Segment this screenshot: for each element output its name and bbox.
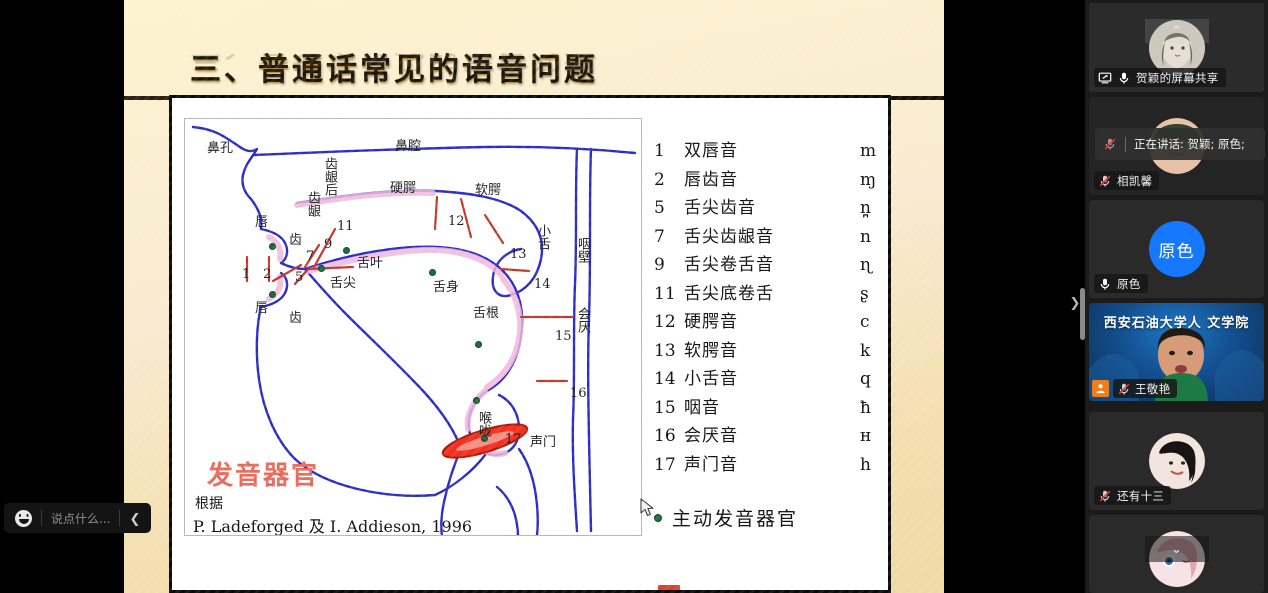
place-list-name: 舌尖齿龈音 (684, 222, 860, 247)
diagram-number: 7 (306, 249, 314, 264)
participant-name: 还有十三 (1117, 488, 1164, 504)
diagram-label: 唇 (255, 297, 268, 316)
place-list-number: 12 (654, 312, 684, 332)
place-list-number: 14 (654, 369, 684, 389)
mic-muted-icon (1098, 489, 1112, 503)
speaking-indicator-toast: 正在讲话: 贺颖; 原色; (1095, 128, 1265, 160)
host-icon (1092, 380, 1109, 397)
host-person-glyph (1095, 383, 1106, 394)
diagram-number: 9 (324, 237, 332, 252)
diagram-number: 11 (337, 219, 354, 234)
active-articulator-legend: 主动发音器官 (654, 504, 798, 531)
diagram-number: 16 (570, 386, 587, 401)
participant-tile-partial[interactable]: ⌄ (1089, 515, 1264, 593)
diagram-label: 会厌 (573, 307, 592, 333)
participant-badge: 原色 (1094, 274, 1148, 293)
participant-name: 王敬艳 (1135, 381, 1170, 397)
participant-tile-wangjingyan[interactable]: 西安石油大学人 文学院 王敬艳 (1089, 303, 1264, 401)
mic-icon (1117, 71, 1131, 85)
place-list-row: 9舌尖卷舌音ɳ (654, 250, 894, 279)
place-list-symbol: q (860, 369, 894, 389)
diagram-number: 5 (295, 270, 303, 285)
active-articulator-dot (269, 291, 276, 298)
tile-media: ⌄ (1089, 515, 1264, 593)
webcam-overlay-title: 西安石油大学人 文学院 (1089, 312, 1264, 331)
place-list-symbol: k (860, 341, 894, 361)
place-list-number: 9 (654, 255, 684, 275)
diagram-number: 17 (505, 432, 522, 447)
place-list-name: 舌尖卷舌音 (684, 250, 860, 275)
participant-badge: 相凯馨 (1094, 171, 1159, 190)
place-list-symbol: ʂ (860, 284, 894, 304)
place-list-symbol: ħ (860, 398, 894, 418)
diagram-label: 舌叶 (357, 252, 383, 271)
mic-muted-icon (1098, 174, 1112, 188)
place-list-name: 会厌音 (684, 421, 860, 446)
active-articulator-dot (473, 397, 480, 404)
place-list-name: 小舌音 (684, 364, 860, 389)
diagram-number: 2 (263, 267, 271, 282)
meeting-screen-share-window: 三、普通话常见的语音问题 三、普通话常见的语音问题 (0, 0, 1268, 593)
participant-name: 贺颖的屏幕共享 (1136, 70, 1219, 86)
mic-muted-icon (1103, 137, 1117, 151)
place-list-number: 16 (654, 426, 684, 446)
legend-label: 主动发音器官 (672, 504, 798, 531)
place-list-symbol: ʜ (860, 426, 894, 446)
place-list-name: 舌尖底卷舌 (684, 279, 860, 304)
place-list-row: 1双唇音m (654, 136, 894, 165)
diagram-label: 鼻孔 (207, 137, 233, 156)
active-articulator-dot (343, 247, 350, 254)
composer-collapse-button[interactable]: ❮ (120, 503, 149, 533)
diagram-number: 12 (448, 214, 465, 229)
active-articulator-dot (475, 341, 482, 348)
place-list-symbol: h (860, 455, 894, 475)
place-list-symbol: ɱ (860, 170, 894, 190)
scroll-up-overlay-button[interactable]: ⌃ (1145, 19, 1209, 43)
place-list-row: 16会厌音ʜ (654, 421, 894, 450)
place-list-symbol: ɳ (860, 255, 894, 275)
diagram-label: 小舌 (533, 224, 552, 250)
diagram-label: 咽壁 (573, 237, 592, 263)
participant-tile-screen-share[interactable]: ⌃ 贺颖的屏幕共享 (1089, 3, 1264, 92)
avatar-initials: 原色 (1149, 221, 1205, 277)
diagram-label: 软腭 (475, 179, 501, 198)
place-list-name: 声门音 (684, 450, 860, 475)
chevron-right-icon: ❯ (1070, 295, 1081, 311)
participant-tile-yuanse[interactable]: 原色 原色 (1089, 200, 1264, 298)
place-list-name: 唇齿音 (684, 165, 860, 190)
participant-badge: 还有十三 (1094, 486, 1171, 505)
participants-rail: ⌃ 贺颖的屏幕共享 (1085, 0, 1268, 593)
place-list-name: 舌尖齿音 (684, 193, 860, 218)
place-list-row: 5舌尖齿音n̪ (654, 193, 894, 222)
shared-content-stage: 三、普通话常见的语音问题 三、普通话常见的语音问题 (0, 0, 1085, 593)
diagram-label: 硬腭 (390, 177, 416, 196)
diagram-label: 声门 (530, 431, 556, 450)
place-list-row: 14小舌音q (654, 364, 894, 393)
participant-badge: 贺颖的屏幕共享 (1094, 68, 1226, 87)
diagram-label: 齿 (289, 229, 302, 248)
vocal-tract-diagram: 鼻孔鼻腔硬腭软腭齿龈后齿龈唇齿唇齿舌叶舌尖舌身小舌咽壁会厌舌根喉咙声门 1257… (184, 118, 642, 536)
diagram-label: 鼻腔 (395, 135, 421, 154)
place-list-row: 7舌尖齿龈音n (654, 222, 894, 251)
avatar (1149, 433, 1205, 489)
diagram-label: 舌尖 (330, 272, 356, 291)
place-list-name: 软腭音 (684, 336, 860, 361)
place-list-row: 11舌尖底卷舌ʂ (654, 279, 894, 308)
place-list-number: 7 (654, 227, 684, 247)
place-list-number: 5 (654, 198, 684, 218)
place-list-number: 11 (654, 284, 684, 304)
diagram-label: 舌身 (433, 276, 459, 295)
participant-tile-haiyoushisan[interactable]: 还有十三 (1089, 412, 1264, 510)
diagram-label: 唇 (255, 211, 268, 230)
place-list-symbol: n (860, 227, 894, 247)
place-list-row: 17声门音h (654, 450, 894, 479)
diagram-number: 1 (242, 267, 250, 282)
place-list-row: 2唇齿音ɱ (654, 165, 894, 194)
chat-input-placeholder: 说点什么... (51, 510, 110, 527)
speaking-text: 正在讲话: 贺颖; 原色; (1134, 136, 1245, 152)
place-list-name: 双唇音 (684, 136, 860, 161)
active-articulator-dot (429, 269, 436, 276)
place-list-symbol: n̪ (860, 198, 894, 218)
place-list-number: 15 (654, 398, 684, 418)
active-articulator-dot (318, 265, 325, 272)
diagram-label: 舌根 (473, 302, 499, 321)
figure-headline: 发音器官 (207, 455, 319, 492)
place-list-symbol: c (860, 312, 894, 332)
figure-credit-label: 根据 (195, 493, 223, 513)
diagram-label: 喉咙 (474, 411, 493, 437)
place-list-row: 15咽音ħ (654, 393, 894, 422)
diagram-label: 齿 (289, 307, 302, 326)
toast-divider (1125, 137, 1126, 152)
place-list-row: 13软腭音k (654, 336, 894, 365)
avatar-illustration-icon (1149, 433, 1205, 489)
place-list-row: 12硬腭音c (654, 307, 894, 336)
slide-title-reflection: 三、普通话常见的语音问题 (190, 50, 598, 78)
presentation-slide: 三、普通话常见的语音问题 三、普通话常见的语音问题 (124, 0, 944, 593)
diagram-label: 齿龈 (303, 191, 322, 217)
place-list-symbol: m (860, 141, 894, 161)
place-list-number: 1 (654, 141, 684, 161)
smiley-face-icon (15, 510, 32, 527)
mouse-cursor-icon (640, 498, 656, 518)
screen-share-icon (1098, 71, 1112, 85)
chat-input-field[interactable]: 说点什么... (42, 503, 119, 533)
active-articulator-dot (269, 243, 276, 250)
place-list-number: 13 (654, 341, 684, 361)
chevron-left-icon: ❮ (129, 512, 140, 525)
place-list-name: 咽音 (684, 393, 860, 418)
place-list-number: 17 (654, 455, 684, 475)
chevron-down-icon: ⌄ (1171, 541, 1182, 557)
diagram-number: 15 (555, 329, 572, 344)
articulatory-organs-figure: 鼻孔鼻腔硬腭软腭齿龈后齿龈唇齿唇齿舌叶舌尖舌身小舌咽壁会厌舌根喉咙声门 1257… (169, 95, 891, 593)
figure-credit-source: P. Ladeforged 及 I. Addieson, 1996 (193, 513, 472, 536)
chevron-up-icon: ⌃ (1171, 23, 1182, 39)
mic-muted-icon (1117, 382, 1131, 396)
diagram-number: 14 (534, 277, 551, 292)
participant-badge: 王敬艳 (1092, 379, 1177, 398)
slide-progress-marker (658, 585, 680, 590)
emoji-picker-button[interactable] (6, 503, 41, 533)
chat-composer[interactable]: 说点什么... ❮ (4, 503, 151, 533)
rail-scrollbar-thumb[interactable] (1080, 288, 1085, 340)
diagram-label: 齿龈后 (320, 157, 339, 196)
scroll-down-overlay-button[interactable]: ⌄ (1145, 536, 1209, 562)
place-of-articulation-list: 1双唇音m2唇齿音ɱ5舌尖齿音n̪7舌尖齿龈音n9舌尖卷舌音ɳ11舌尖底卷舌ʂ1… (654, 136, 894, 478)
place-list-number: 2 (654, 170, 684, 190)
diagram-number: 13 (510, 247, 527, 262)
place-list-name: 硬腭音 (684, 307, 860, 332)
mic-icon (1098, 277, 1112, 291)
participant-name: 相凯馨 (1117, 173, 1152, 189)
participant-name: 原色 (1117, 276, 1141, 292)
